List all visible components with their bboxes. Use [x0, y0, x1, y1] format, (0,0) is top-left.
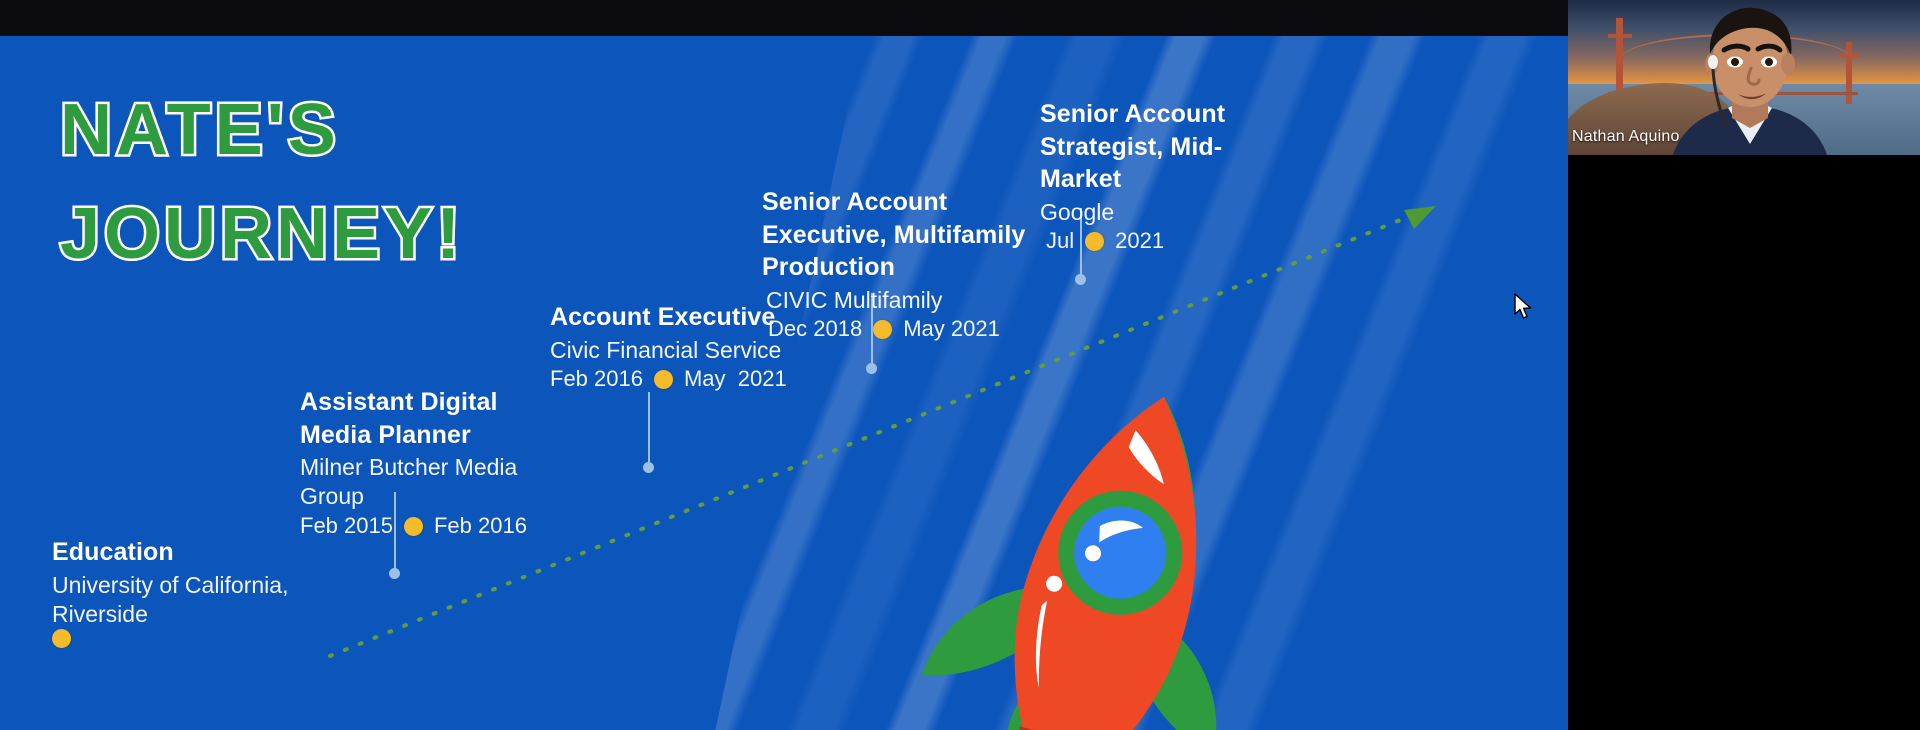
milestone-assistant-digital-media-planner: Assistant Digital Media Planner Milner B…	[300, 386, 550, 540]
connector-node-senior-account-strategist	[1075, 274, 1086, 285]
milestone-senior-account-strategist: Senior Account Strategist, Mid-Market Go…	[1040, 98, 1255, 256]
milestone-end-date: May 2021	[684, 365, 787, 394]
rocket-icon	[900, 356, 1330, 730]
milestone-dot-icon	[52, 629, 71, 648]
title-line-1: NATE'S	[60, 90, 340, 170]
milestone-dates	[52, 629, 322, 648]
screen-share-view: NATE'S JOURNEY! Education University of …	[0, 0, 1920, 730]
milestone-dates: Feb 2016 May 2021	[550, 365, 810, 394]
page-title: NATE'S JOURNEY!	[60, 78, 620, 287]
milestone-end-date: 2021	[1115, 227, 1164, 256]
milestone-senior-account-executive: Senior Account Executive, Multifamily Pr…	[762, 186, 1030, 344]
presentation-slide: NATE'S JOURNEY! Education University of …	[0, 36, 1568, 730]
milestone-org: University of California, Riverside	[52, 571, 322, 630]
milestone-dot-icon	[873, 320, 892, 339]
milestone-role: Senior Account Executive, Multifamily Pr…	[762, 186, 1030, 284]
milestone-dates: Dec 2018 May 2021	[768, 315, 1030, 344]
milestone-dates: Jul 2021	[1046, 227, 1255, 256]
milestone-role: Assistant Digital Media Planner	[300, 386, 550, 451]
milestone-dot-icon	[1085, 232, 1104, 251]
milestone-role: Senior Account Strategist, Mid-Market	[1040, 98, 1255, 196]
milestone-end-date: May 2021	[903, 315, 1000, 344]
trajectory-arrowhead	[1404, 206, 1436, 229]
milestone-org: CIVIC Multifamily	[766, 286, 1030, 315]
connector-node-account-executive	[643, 462, 654, 473]
presentation-top-bar	[0, 0, 1568, 36]
milestone-role: Education	[52, 536, 322, 569]
participant-name-label: Nathan Aquino	[1572, 128, 1680, 146]
connector-node-assistant	[389, 568, 400, 579]
milestone-dot-icon	[654, 370, 673, 389]
milestone-dot-icon	[404, 517, 423, 536]
connector-stem-account-executive	[648, 392, 650, 468]
milestone-start-date: Feb 2015	[300, 512, 393, 541]
milestone-org: Google	[1040, 198, 1255, 227]
milestone-dates: Feb 2015 Feb 2016	[300, 512, 550, 541]
milestone-education: Education University of California, Rive…	[52, 536, 322, 648]
connector-node-senior-account-executive	[866, 363, 877, 374]
milestone-start-date: Jul	[1046, 227, 1074, 256]
milestone-start-date: Feb 2016	[550, 365, 643, 394]
title-line-2: JOURNEY!	[60, 182, 620, 286]
milestone-start-date: Dec 2018	[768, 315, 862, 344]
milestone-org: Milner Butcher Media Group	[300, 453, 550, 512]
milestone-end-date: Feb 2016	[434, 512, 527, 541]
